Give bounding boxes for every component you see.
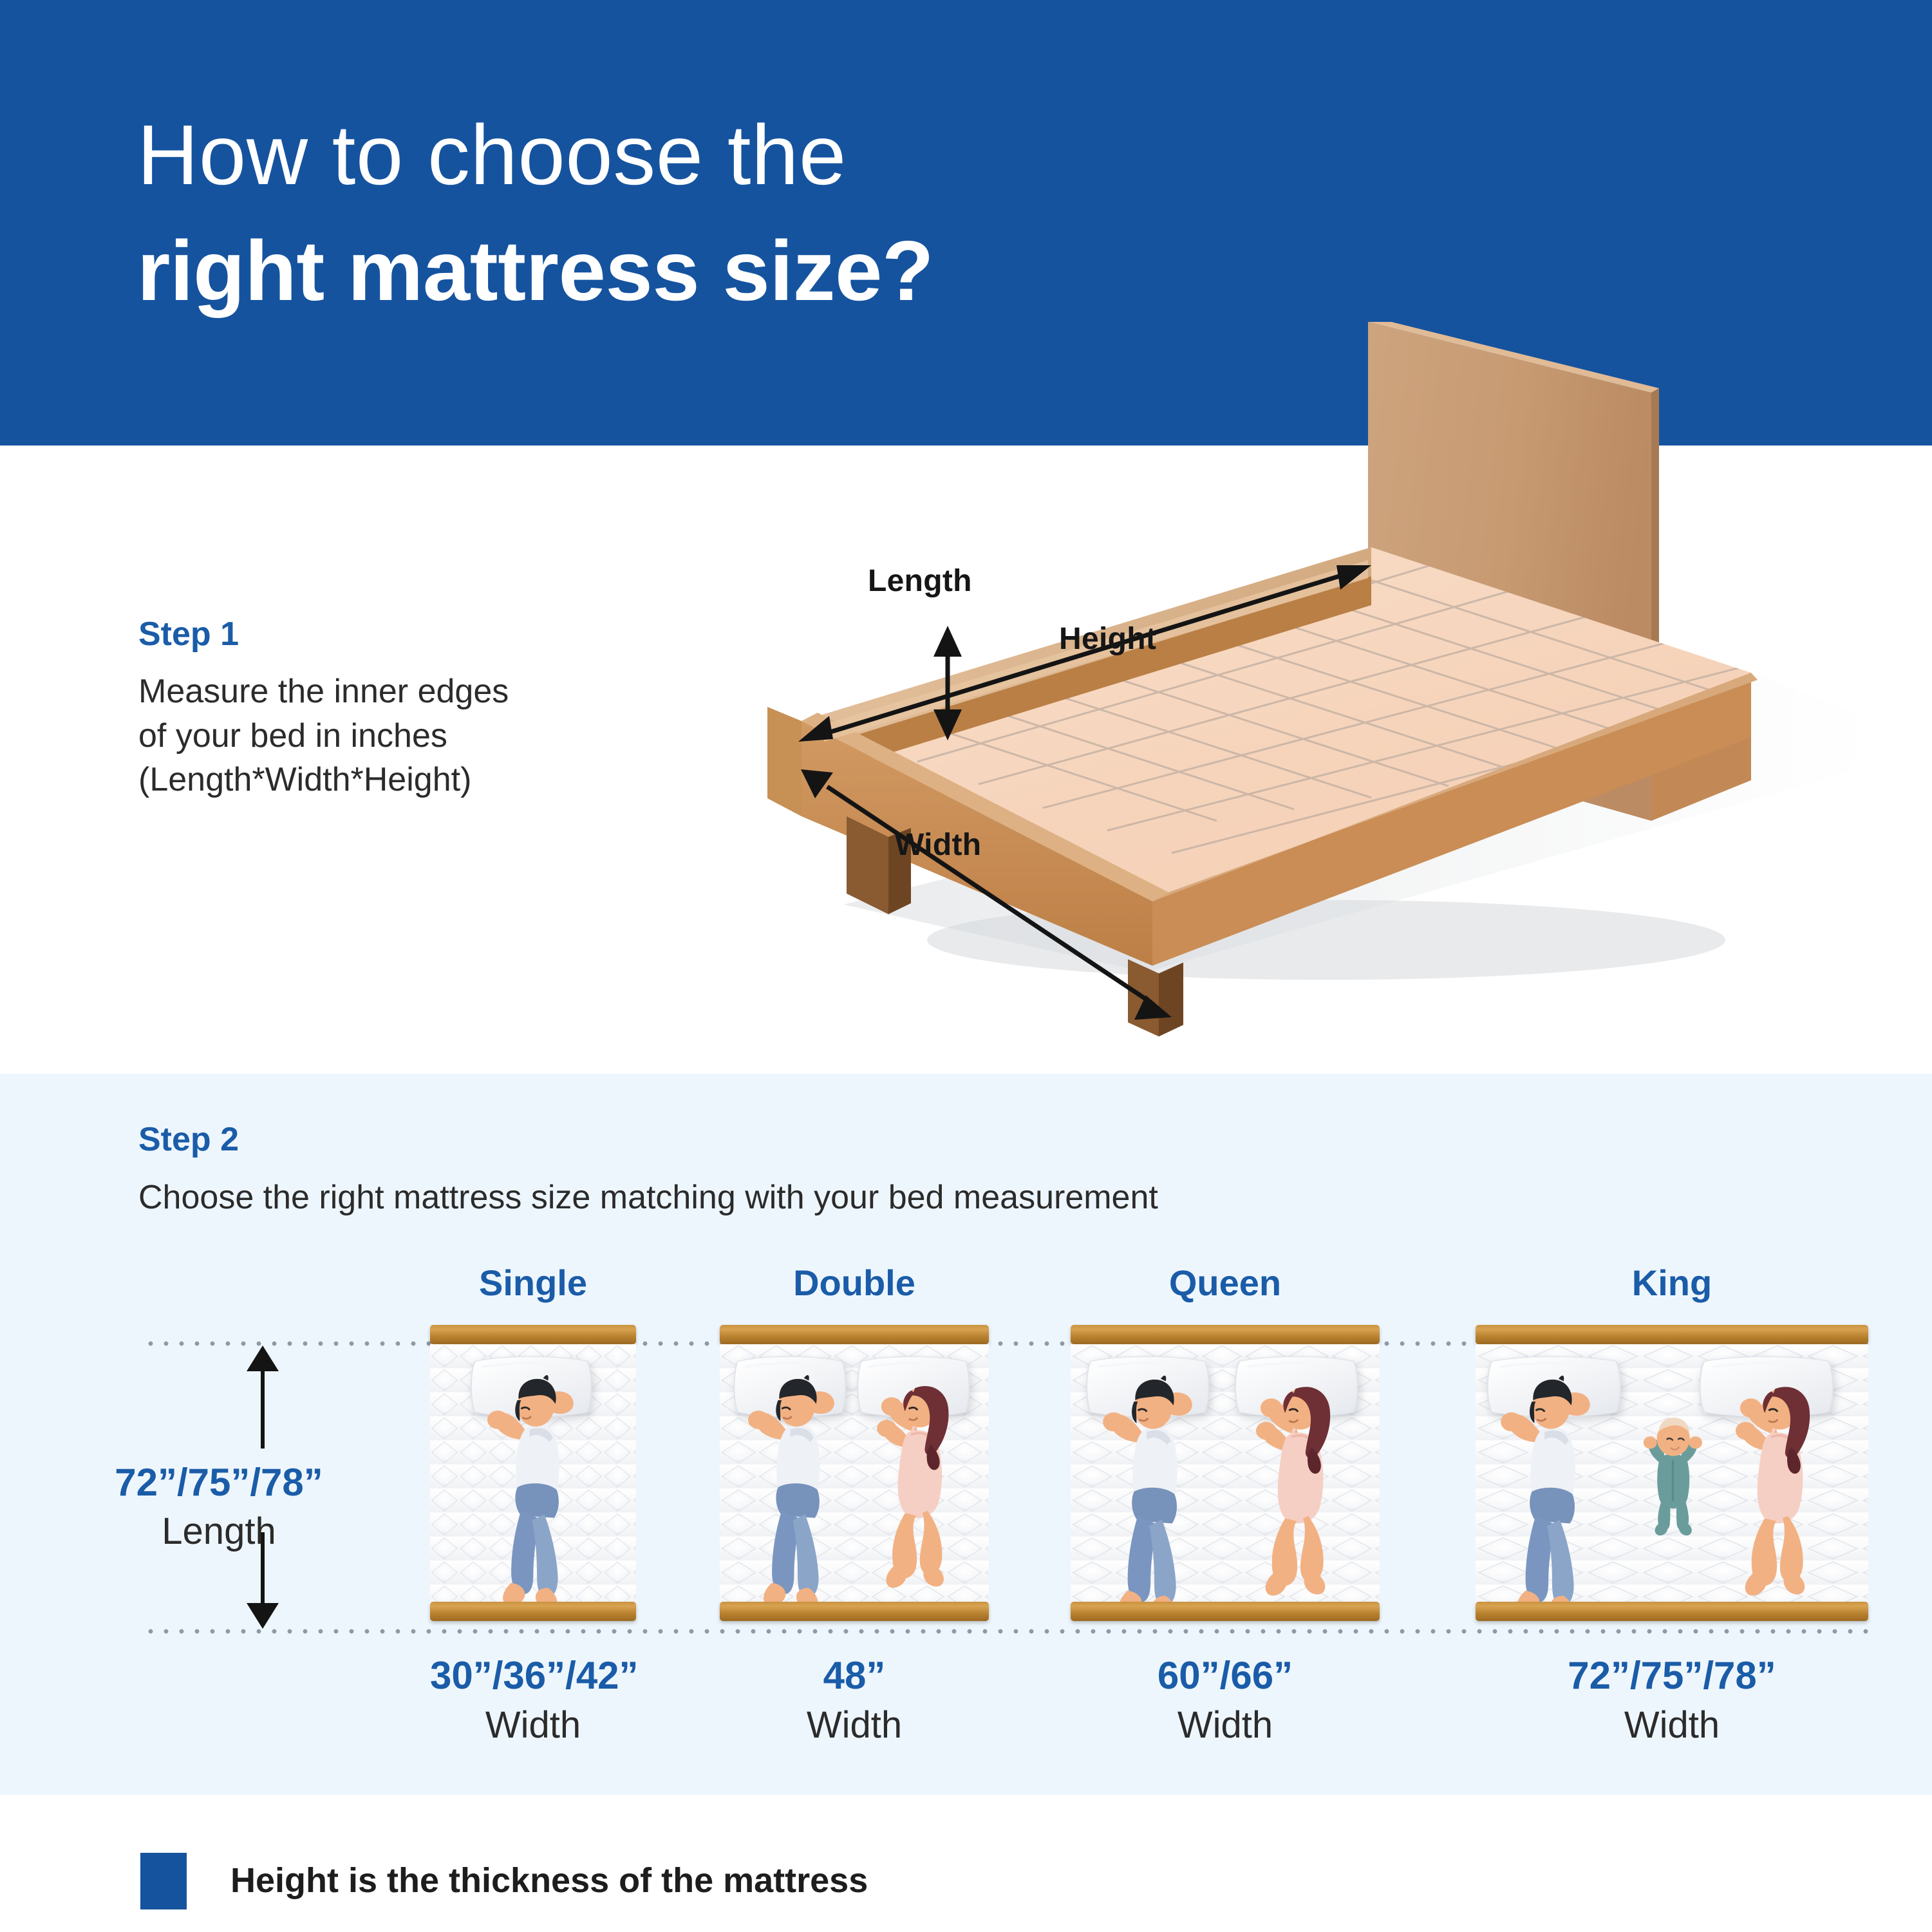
- bed-frame-bottom-bar: [430, 1602, 636, 1621]
- step1-label: Step 1: [138, 615, 239, 653]
- sleeper-baby: [1633, 1403, 1715, 1558]
- mattress-surface: [1476, 1344, 1868, 1602]
- step2-label: Step 2: [138, 1120, 239, 1159]
- bed-frame-bottom-bar: [1071, 1602, 1380, 1621]
- mattress-surface: [720, 1344, 989, 1602]
- bed-frame-top-bar: [720, 1325, 989, 1344]
- sleeper-man: [1487, 1361, 1620, 1602]
- mattress-width-unit: Width: [1476, 1703, 1868, 1747]
- page-title-line1: How to choose the: [137, 113, 847, 198]
- bed-frame-bottom-bar: [1476, 1602, 1868, 1621]
- bed-frame-bottom-bar: [720, 1602, 989, 1621]
- mattress-surface: [430, 1344, 636, 1602]
- sleeper-woman: [1232, 1364, 1364, 1602]
- sleeper-man: [475, 1361, 601, 1602]
- sleeper-woman: [854, 1364, 980, 1602]
- sleeper-woman: [1711, 1364, 1844, 1602]
- step1-description: Measure the inner edges of your bed in i…: [138, 670, 509, 802]
- height-label: Height: [1059, 621, 1156, 657]
- mattress-column-king[interactable]: King: [1476, 1262, 1868, 1737]
- infographic-page: How to choose the right mattress size? S…: [0, 0, 1932, 1932]
- mattress-width-unit: Width: [720, 1703, 989, 1747]
- legend-swatch: [140, 1853, 187, 1909]
- step2-description: Choose the right mattress size matching …: [138, 1178, 1158, 1217]
- mattress-width-value: 30”/36”/42”: [430, 1653, 636, 1698]
- mattress-column-double[interactable]: Double: [720, 1262, 989, 1737]
- mattress-size-title: King: [1476, 1262, 1868, 1304]
- mattress-width-unit: Width: [1071, 1703, 1380, 1747]
- page-title-line2: right mattress size?: [137, 229, 933, 314]
- mattress-size-title: Queen: [1071, 1262, 1380, 1304]
- step1-line1: Measure the inner edges: [138, 670, 509, 714]
- length-label: Length: [868, 563, 972, 599]
- length-arrow-down-head: [247, 1603, 279, 1629]
- length-arrow-up-shaft: [261, 1365, 265, 1449]
- mattress-width-unit: Width: [430, 1703, 636, 1747]
- mattress-column-single[interactable]: Single: [430, 1262, 636, 1737]
- mattress-column-queen[interactable]: Queen: [1071, 1262, 1380, 1737]
- sleeper-man: [736, 1361, 862, 1602]
- width-label: Width: [895, 827, 981, 863]
- mattress-width-value: 48”: [720, 1653, 989, 1698]
- step1-line2: of your bed in inches: [138, 714, 509, 758]
- mattress-surface: [1071, 1344, 1380, 1602]
- bed-frame-top-bar: [430, 1325, 636, 1344]
- length-value: 72”/75”/78”: [0, 1460, 438, 1505]
- sleeper-man: [1089, 1361, 1222, 1602]
- bed-diagram: Length Height Width: [695, 322, 1931, 1069]
- mattress-size-title: Single: [430, 1262, 636, 1304]
- mattress-size-title: Double: [720, 1262, 989, 1304]
- step1-line3: (Length*Width*Height): [138, 758, 509, 802]
- legend-note: Height is the thickness of the mattress: [230, 1861, 868, 1900]
- mattress-width-value: 60”/66”: [1071, 1653, 1380, 1698]
- bed-frame-top-bar: [1476, 1325, 1868, 1344]
- mattress-width-value: 72”/75”/78”: [1476, 1653, 1868, 1698]
- length-unit: Length: [0, 1510, 438, 1553]
- bed-frame-top-bar: [1071, 1325, 1380, 1344]
